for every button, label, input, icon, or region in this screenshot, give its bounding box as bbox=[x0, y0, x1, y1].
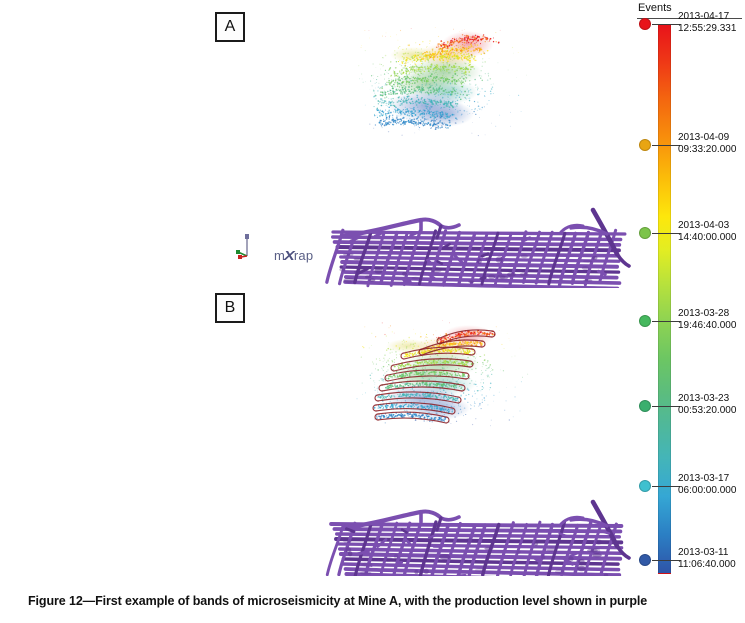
legend-tick-dot bbox=[639, 227, 651, 239]
production-level-geometry-a bbox=[325, 196, 632, 288]
legend-tick-date: 2013-03-28 bbox=[678, 308, 736, 320]
legend-tick-label: 2013-03-1706:00:00.000 bbox=[678, 473, 736, 497]
microseismic-point-cloud-a bbox=[352, 22, 532, 140]
scene-panel-a[interactable]: mXrap bbox=[0, 0, 632, 288]
legend-tick-time: 00:53:20.000 bbox=[678, 405, 736, 417]
panel-label-b: B bbox=[215, 293, 245, 323]
logo-x-glyph: X bbox=[284, 248, 295, 263]
legend-tick-label: 2013-04-1712:55:29.331 bbox=[678, 11, 736, 35]
legend-title: Events bbox=[638, 2, 672, 14]
mxrap-logo-a: mXrap bbox=[274, 248, 313, 263]
legend-tick-dot bbox=[639, 400, 651, 412]
legend-tick-time: 06:00:00.000 bbox=[678, 485, 736, 497]
legend-tick-line bbox=[652, 560, 680, 561]
legend-tick-label: 2013-04-0909:33:20.000 bbox=[678, 132, 736, 156]
legend-tick-date: 2013-03-23 bbox=[678, 393, 736, 405]
microseismic-point-cloud-b bbox=[352, 316, 532, 434]
events-colorbar[interactable] bbox=[658, 24, 671, 574]
figure-caption: Figure 12—First example of bands of micr… bbox=[28, 594, 728, 608]
legend-tick-line bbox=[652, 486, 680, 487]
figure-container: mXrap A bbox=[0, 0, 745, 623]
legend-tick-line bbox=[652, 406, 680, 407]
production-level-geometry-b bbox=[325, 488, 632, 576]
scene-panel-b[interactable]: mXrap bbox=[0, 288, 632, 576]
legend-tick-line bbox=[652, 321, 680, 322]
legend-tick-dot bbox=[639, 139, 651, 151]
legend-tick-time: 14:40:00.000 bbox=[678, 232, 736, 244]
legend-tick-line bbox=[652, 145, 680, 146]
legend-tick-time: 11:06:40.000 bbox=[678, 559, 736, 571]
legend-tick-dot bbox=[639, 554, 651, 566]
legend-tick-label: 2013-03-2300:53:20.000 bbox=[678, 393, 736, 417]
legend-tick-time: 09:33:20.000 bbox=[678, 144, 736, 156]
legend-tick-line bbox=[652, 24, 680, 25]
legend-tick-date: 2013-04-03 bbox=[678, 220, 736, 232]
legend-tick-date: 2013-03-11 bbox=[678, 547, 736, 559]
legend-tick-time: 12:55:29.331 bbox=[678, 23, 736, 35]
events-time-legend: Events 2013-04-1712:55:29.3312013-04-090… bbox=[634, 2, 745, 592]
legend-tick-dot bbox=[639, 315, 651, 327]
axis-triad-icon bbox=[234, 232, 260, 260]
logo-suffix: rap bbox=[294, 248, 313, 263]
legend-tick-label: 2013-03-2819:46:40.000 bbox=[678, 308, 736, 332]
legend-tick-label: 2013-04-0314:40:00.000 bbox=[678, 220, 736, 244]
panel-label-a: A bbox=[215, 12, 245, 42]
legend-tick-label: 2013-03-1111:06:40.000 bbox=[678, 547, 736, 571]
legend-tick-time: 19:46:40.000 bbox=[678, 320, 736, 332]
legend-tick-line bbox=[652, 233, 680, 234]
legend-tick-dot bbox=[639, 480, 651, 492]
legend-tick-date: 2013-04-09 bbox=[678, 132, 736, 144]
legend-tick-dot bbox=[639, 18, 651, 30]
legend-tick-date: 2013-04-17 bbox=[678, 11, 736, 23]
legend-tick-date: 2013-03-17 bbox=[678, 473, 736, 485]
